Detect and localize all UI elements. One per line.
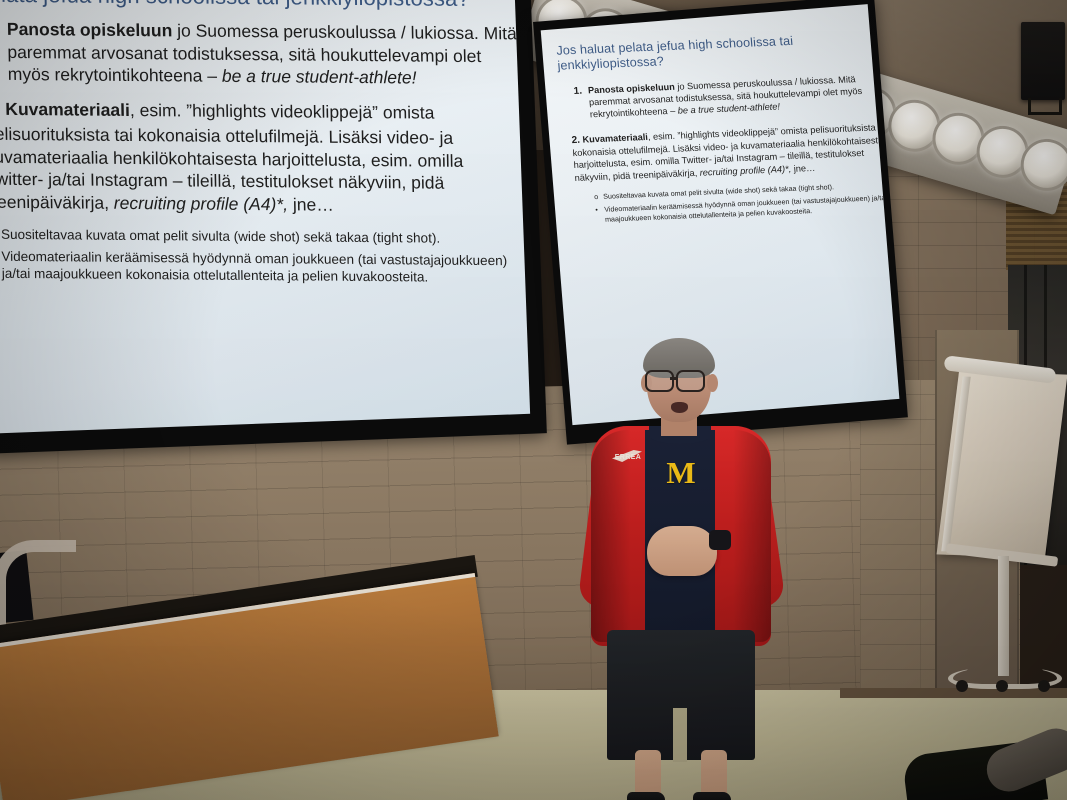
projection-screen-left: ...lata jefua high schoolissa tai jenkki… [0, 0, 547, 454]
wall-speaker [1021, 22, 1065, 100]
item-2-tail: jne… [791, 163, 816, 174]
projection-screen-left-surface: ...lata jefua high schoolissa tai jenkki… [0, 0, 530, 433]
wristwatch [709, 530, 731, 550]
glasses-lens-left [645, 370, 674, 392]
item-1-lead: Panosta opiskeluun [7, 19, 173, 40]
slide-title-right: Jos haluat pelata jefua high schoolissa … [556, 30, 886, 73]
list-number: 2. [0, 99, 1, 120]
mouth [671, 402, 688, 413]
list-number: 1. [573, 84, 584, 121]
jacket-shading-right [733, 430, 771, 642]
caster-wheel [1038, 680, 1050, 692]
shorts-gap [673, 708, 687, 762]
slide-title-left: ...lata jefua high schoolissa tai jenkki… [0, 0, 519, 12]
caster-wheel [996, 680, 1008, 692]
easel-post [998, 556, 1009, 676]
ear-right [707, 374, 718, 392]
michigan-m-logo: M [663, 458, 699, 488]
item-2-lead: Kuvamateriaali [5, 99, 130, 120]
glasses-lens-right [676, 370, 705, 392]
subbullet-text: Videomateriaalin keräämisessä hyödynnä o… [1, 248, 524, 287]
item-1-italic: be a true student-athlete! [222, 66, 417, 88]
slide-content-left: ...lata jefua high schoolissa tai jenkki… [0, 0, 530, 433]
item-2-italic: recruiting profile (A4)*, [114, 193, 289, 215]
speaker-bracket [1028, 98, 1062, 115]
subbullet-text: Suositeltavaa kuvata omat pelit sivulta … [1, 226, 524, 248]
list-number: 2. [571, 135, 580, 146]
item-2-tail: jne… [288, 194, 334, 214]
shoe-right [693, 792, 731, 800]
item-1-italic: be a true student-athlete! [677, 102, 780, 116]
item-2-lead: Kuvamateriaali [582, 132, 648, 145]
shoe-left [627, 792, 665, 800]
jacket-brand-label: ERREA [611, 454, 645, 480]
item-2-italic: recruiting profile (A4)*, [699, 164, 791, 178]
clasped-hands [647, 526, 717, 576]
lecture-hall-photo: ...lata jefua high schoolissa tai jenkki… [0, 0, 1067, 800]
glasses-bridge [670, 377, 677, 380]
caster-wheel [956, 680, 968, 692]
flipchart-easel [940, 358, 1067, 708]
presenter: ERREA M [585, 330, 775, 800]
item-1-lead: Panosta opiskeluun [588, 82, 676, 96]
